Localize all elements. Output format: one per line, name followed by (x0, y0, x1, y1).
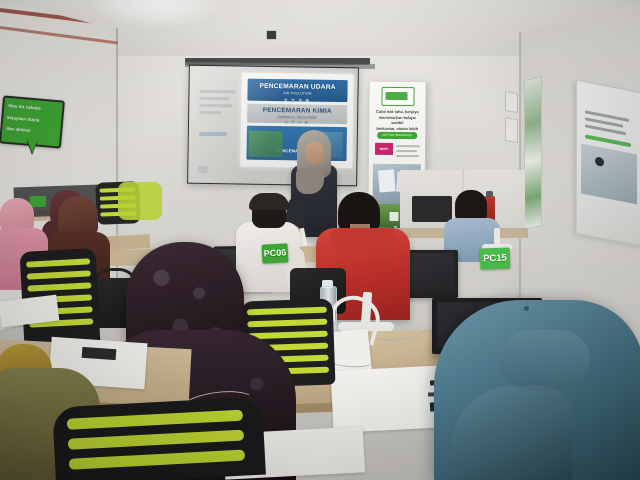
banner-logo-mark (385, 92, 407, 100)
chair-foreground (52, 397, 266, 480)
banner-text-line-1 (396, 145, 420, 147)
banner-headline-line3: berkawan, niatan lebih (372, 126, 422, 132)
wall-red-stripe-secondary (0, 26, 123, 45)
banner-footer-icon (389, 212, 398, 221)
wall-switch-plate-upper[interactable] (505, 91, 518, 113)
banner-headline: Cuba nak tahu, berjaya memasarkan belaja… (372, 109, 422, 132)
banner-text-line-3 (396, 155, 419, 157)
participant-cap (249, 193, 289, 210)
banner-photo-doc-left (378, 169, 396, 192)
ceiling-sensor-icon (266, 30, 277, 40)
handout-left-logo (82, 347, 117, 360)
wall-switch-plate-lower[interactable] (505, 117, 518, 143)
participant-red-hoodie-hood (330, 228, 396, 252)
back-monitor (412, 196, 452, 222)
workstation-tag-left-label (30, 196, 46, 207)
training-room-photo: Ilmu itu cahaya kejayaan dunia dan akhir… (0, 0, 640, 480)
speech-bubble-tail-icon (25, 138, 37, 153)
right-wall-poster-wide (576, 80, 640, 247)
workstation-tag-pc06-label: PC06 (262, 243, 289, 263)
poster-image (581, 144, 637, 205)
banner-cta-label: DAFTAR SEKARANG (377, 132, 417, 139)
banner-brand-label: MDEC (375, 143, 393, 155)
banner-text-line-2 (396, 150, 417, 152)
banner-headline-line2: memasarkan belajar sambil (372, 114, 422, 126)
chair-green-back (118, 182, 162, 220)
presenter-face (305, 142, 324, 164)
right-wall-poster-narrow (524, 76, 542, 230)
fire-extinguisher-valve (486, 191, 493, 197)
banner-logo (381, 87, 414, 106)
participant-teal-hijab-fold-upper (500, 330, 590, 390)
workstation-tag-pc15-label: PC15 (480, 247, 511, 269)
participant-teal-hijab-pin (524, 306, 529, 311)
